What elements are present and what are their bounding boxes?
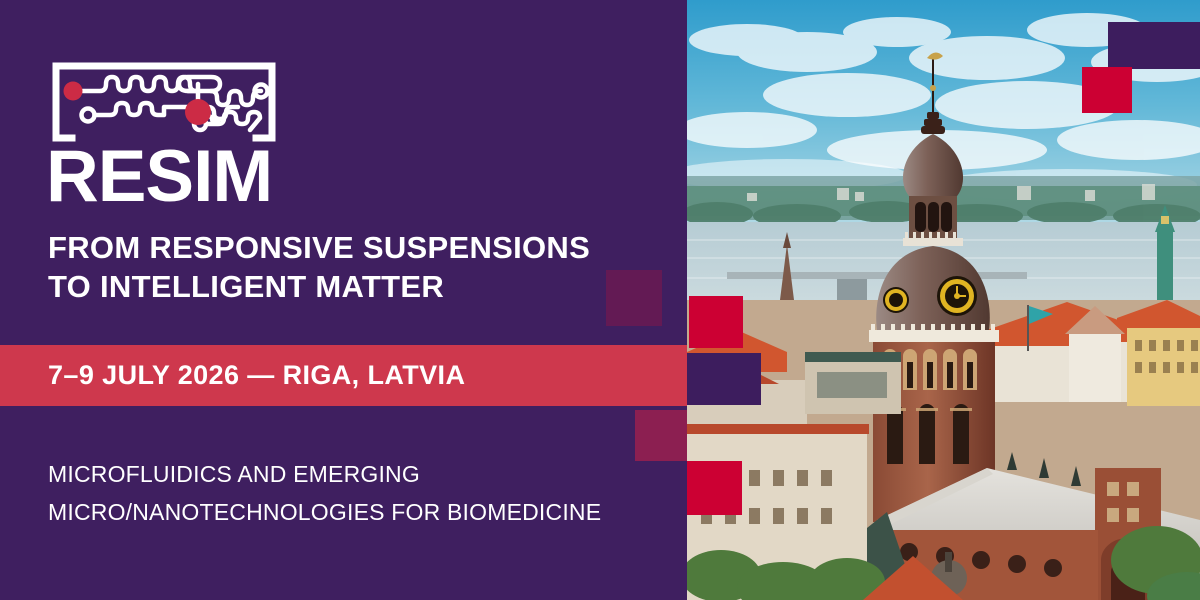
- conference-banner: RESIM FROM RESPONSIVE SUSPENSIONS TO INT…: [0, 0, 1200, 600]
- microfluidic-chip-icon: [48, 60, 280, 142]
- subtitle-line-2: MICRO/NANOTECHNOLOGIES FOR BIOMEDICINE: [48, 493, 658, 531]
- headline-line-1: FROM RESPONSIVE SUSPENSIONS: [48, 228, 648, 267]
- decor-square-plum-upper: [606, 270, 662, 326]
- conference-subtitle: MICROFLUIDICS AND EMERGING MICRO/NANOTEC…: [48, 455, 658, 531]
- date-location-text: 7–9 JULY 2026 — RIGA, LATVIA: [48, 345, 465, 406]
- logo-node-red-center: [185, 99, 211, 125]
- resim-logo: RESIM: [48, 60, 280, 210]
- brand-name: RESIM: [46, 140, 272, 213]
- decor-square-magenta-lower: [635, 410, 687, 461]
- date-location-bar: 7–9 JULY 2026 — RIGA, LATVIA: [0, 345, 687, 406]
- page-title: FROM RESPONSIVE SUSPENSIONS TO INTELLIGE…: [48, 228, 648, 306]
- decor-square-purple-photo-mid: [687, 353, 761, 405]
- subtitle-line-1: MICROFLUIDICS AND EMERGING: [48, 455, 658, 493]
- decor-square-crimson-photo-lower: [687, 461, 742, 515]
- decor-square-crimson-top-right: [1082, 67, 1132, 113]
- decor-square-crimson-photo-upper: [689, 296, 743, 348]
- decor-square-purple-top-right: [1108, 22, 1200, 69]
- logo-node-red-left: [64, 82, 83, 101]
- headline-line-2: TO INTELLIGENT MATTER: [48, 267, 648, 306]
